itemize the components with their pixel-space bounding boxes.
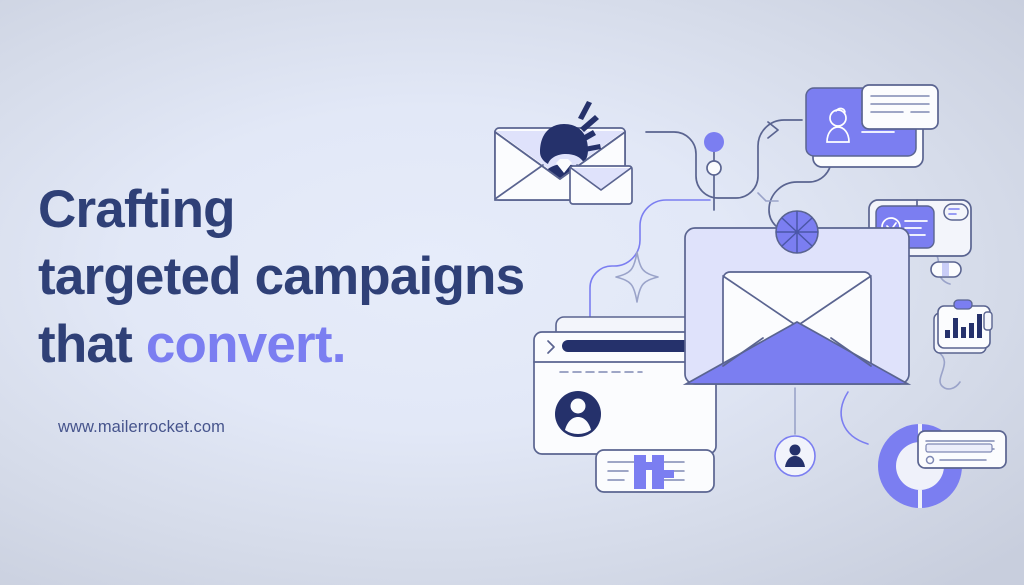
- headline-line-1: Crafting: [38, 176, 638, 243]
- headline-line-3: that convert.: [38, 311, 638, 378]
- bar-chart-widget: [934, 300, 992, 353]
- hero-banner: .ol { fill:none; stroke:#5a6490; stroke-…: [0, 0, 1024, 585]
- person-node: [775, 436, 815, 476]
- text-bubble-card: [862, 85, 938, 129]
- flow-connector-top: [646, 120, 802, 198]
- globe-node: [776, 211, 818, 253]
- tag-pill: [944, 204, 968, 220]
- analytics-strip: [596, 450, 714, 492]
- list-card: [918, 431, 1006, 468]
- toggle-pill[interactable]: [931, 262, 961, 277]
- flow-node-white-circle: [707, 161, 721, 175]
- hero-copy: Crafting targeted campaigns that convert…: [38, 176, 638, 437]
- chevron-accent: [758, 193, 778, 201]
- headline-line-2: targeted campaigns: [38, 243, 638, 310]
- headline-line-3-prefix: that: [38, 315, 146, 374]
- flow-node-purple-dot: [704, 132, 724, 152]
- headline-accent-word: convert.: [146, 315, 346, 374]
- site-url: www.mailerrocket.com: [58, 418, 638, 437]
